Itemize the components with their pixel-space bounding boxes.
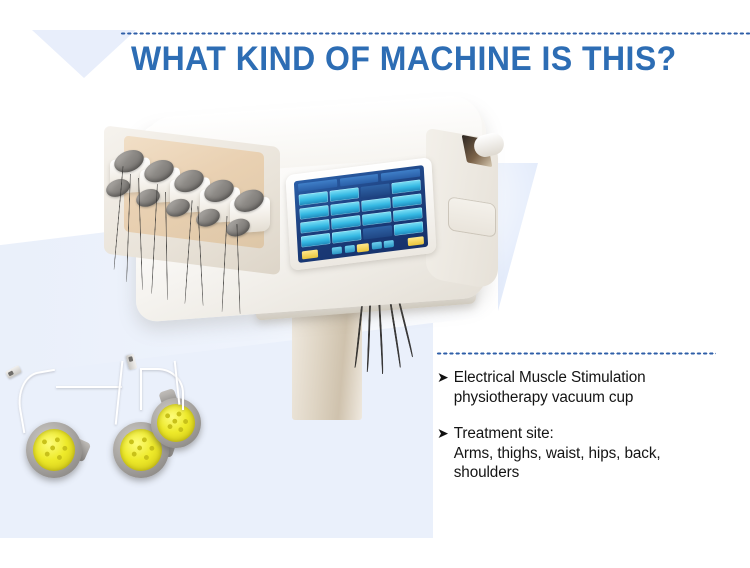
- feature-line-2: physiotherapy vacuum cup: [454, 388, 646, 408]
- trolley-column: [292, 300, 362, 420]
- lcd-button[interactable]: [361, 183, 390, 198]
- feature-line-1: Electrical Muscle Stimulation: [454, 369, 646, 386]
- lcd-footer-spacer: [320, 252, 329, 253]
- lcd-button[interactable]: [394, 221, 423, 236]
- infographic-canvas: WHAT KIND OF MACHINE IS THIS?: [0, 0, 750, 568]
- lcd-button[interactable]: [362, 211, 391, 226]
- feature-line-2: Arms, thighs, waist, hips, back,: [454, 444, 661, 464]
- dotted-rule-top: [120, 32, 750, 35]
- feature-item: ➤ Electrical Muscle Stimulation physioth…: [437, 368, 737, 407]
- probe-cable: [56, 386, 122, 432]
- feature-item: ➤ Treatment site: Arms, thighs, waist, h…: [437, 424, 737, 483]
- lcd-small-button[interactable]: [332, 246, 342, 254]
- feature-line-1: Treatment site:: [454, 425, 554, 442]
- lcd-button[interactable]: [299, 205, 328, 220]
- lcd-button[interactable]: [300, 219, 329, 234]
- lcd-button[interactable]: [362, 197, 391, 212]
- product-image-machine: [96, 104, 516, 354]
- feature-list: ➤ Electrical Muscle Stimulation physioth…: [437, 368, 737, 500]
- lcd-button[interactable]: [330, 187, 359, 202]
- lcd-button[interactable]: [301, 233, 330, 248]
- lcd-button[interactable]: [392, 179, 421, 194]
- background-triangle-down: [32, 30, 136, 78]
- lcd-footer-spacer: [396, 242, 405, 243]
- product-image-probes: [0, 360, 250, 500]
- probe-connector: [5, 365, 22, 379]
- probe-led-array: [33, 429, 75, 471]
- feature-line-3: shoulders: [454, 463, 661, 483]
- feature-text: Treatment site: Arms, thighs, waist, hip…: [454, 424, 661, 483]
- lcd-button[interactable]: [393, 193, 422, 208]
- lcd-button[interactable]: [363, 225, 392, 240]
- feature-text: Electrical Muscle Stimulation physiother…: [454, 368, 646, 407]
- lcd-bezel: [285, 157, 436, 271]
- lcd-small-button[interactable]: [371, 242, 381, 250]
- bullet-arrow-icon: ➤: [437, 424, 449, 443]
- lcd-button[interactable]: [331, 215, 360, 230]
- lcd-small-button[interactable]: [344, 245, 354, 253]
- probe-cable: [174, 359, 195, 404]
- lcd-small-button[interactable]: [384, 240, 394, 248]
- lcd-small-accent-button[interactable]: [357, 243, 369, 252]
- lcd-button[interactable]: [332, 229, 361, 244]
- page-title: WHAT KIND OF MACHINE IS THIS?: [131, 40, 695, 79]
- lcd-button[interactable]: [299, 191, 328, 206]
- lcd-stop-button[interactable]: [408, 236, 424, 246]
- lcd-screen[interactable]: [294, 165, 428, 263]
- lcd-button[interactable]: [330, 201, 359, 216]
- lcd-start-button[interactable]: [302, 249, 318, 259]
- lcd-button[interactable]: [393, 207, 422, 222]
- bullet-arrow-icon: ➤: [437, 368, 449, 387]
